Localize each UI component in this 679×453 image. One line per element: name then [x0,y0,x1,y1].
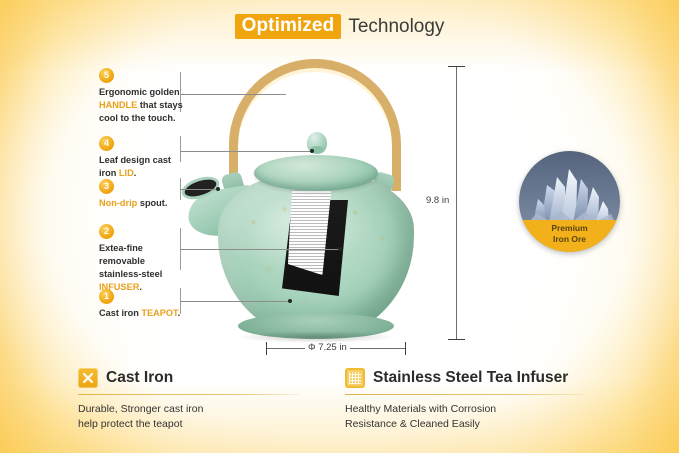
height-cap-top [448,66,465,67]
callout-1-line-1: Cast iron TEAPOT. [99,307,219,320]
callout-5-line-1: Ergonomic golden [99,86,219,99]
callout-3: 3 Non-drip spout. [99,179,219,210]
feature-infuser-desc: Healthy Materials with Corrosion Resista… [345,402,645,432]
callout-4-line-1: Leaf design cast [99,154,219,167]
ore-badge-label: Premium Iron Ore [519,220,620,252]
callout-2-line-2: removable [99,255,219,268]
callout-5-line-3: cool to the touch. [99,112,219,125]
callout-1: 1 Cast iron TEAPOT. [99,289,219,320]
feature-cast-iron-desc: Durable, Stronger cast iron help protect… [78,402,338,432]
title-rest: Technology [341,17,444,37]
feature-infuser-desc-line-1: Healthy Materials with Corrosion [345,402,645,417]
width-dimension-label: Φ 7.25 in [305,342,350,353]
height-dimension-label: 9.8 in [426,195,449,206]
product-infographic: OptimizedTechnology [0,0,679,453]
page-title: OptimizedTechnology [0,14,679,39]
teapot-lid [254,155,378,191]
callout-badge-4: 4 [99,136,114,151]
height-dimension-line [456,66,457,340]
feature-cast-iron-head: Cast Iron [78,368,338,388]
callout-2: 2 Extea-fine removable stainless-steel I… [99,224,219,294]
feature-cast-iron: Cast Iron Durable, Stronger cast iron he… [78,368,338,432]
premium-iron-ore-badge: Premium Iron Ore [519,151,620,252]
callout-5-line-2: HANDLE that stays [99,99,219,112]
feature-infuser-title: Stainless Steel Tea Infuser [373,369,568,386]
callout-text-2: Extea-fine removable stainless-steel INF… [99,242,219,294]
callout-badge-3: 3 [99,179,114,194]
feature-cast-iron-title: Cast Iron [106,369,173,386]
cast-iron-icon [78,368,98,388]
teapot-illustration [196,55,436,340]
feature-cast-iron-rule [78,394,300,395]
callout-text-4: Leaf design cast iron LID. [99,154,219,180]
callout-3-line-1: Non-drip spout. [99,197,219,210]
callout-2-line-3: stainless-steel [99,268,219,281]
callout-text-3: Non-drip spout. [99,197,219,210]
ore-badge-line-1: Premium [519,223,620,234]
title-highlight: Optimized [235,14,342,39]
feature-cast-iron-desc-line-1: Durable, Stronger cast iron [78,402,338,417]
callout-text-5: Ergonomic golden HANDLE that stays cool … [99,86,219,125]
callout-badge-1: 1 [99,289,114,304]
callout-5: 5 Ergonomic golden HANDLE that stays coo… [99,68,219,125]
feature-infuser-rule [345,394,585,395]
anchor-dot-lid [310,149,314,153]
ore-badge-line-2: Iron Ore [519,234,620,245]
mesh-grid-icon [345,368,365,388]
height-cap-bottom [448,339,465,340]
feature-infuser: Stainless Steel Tea Infuser Healthy Mate… [345,368,645,432]
callout-2-line-1: Extea-fine [99,242,219,255]
callout-4: 4 Leaf design cast iron LID. [99,136,219,180]
width-cap-left [266,342,267,355]
anchor-dot-teapot [288,299,292,303]
width-cap-right [405,342,406,355]
callout-text-1: Cast iron TEAPOT. [99,307,219,320]
callout-badge-5: 5 [99,68,114,83]
feature-infuser-desc-line-2: Resistance & Cleaned Easily [345,417,645,432]
anchor-dot-infuser [338,247,342,251]
feature-infuser-head: Stainless Steel Tea Infuser [345,368,645,388]
feature-cast-iron-desc-line-2: help protect the teapot [78,417,338,432]
feature-row: Cast Iron Durable, Stronger cast iron he… [0,368,679,453]
callout-badge-2: 2 [99,224,114,239]
